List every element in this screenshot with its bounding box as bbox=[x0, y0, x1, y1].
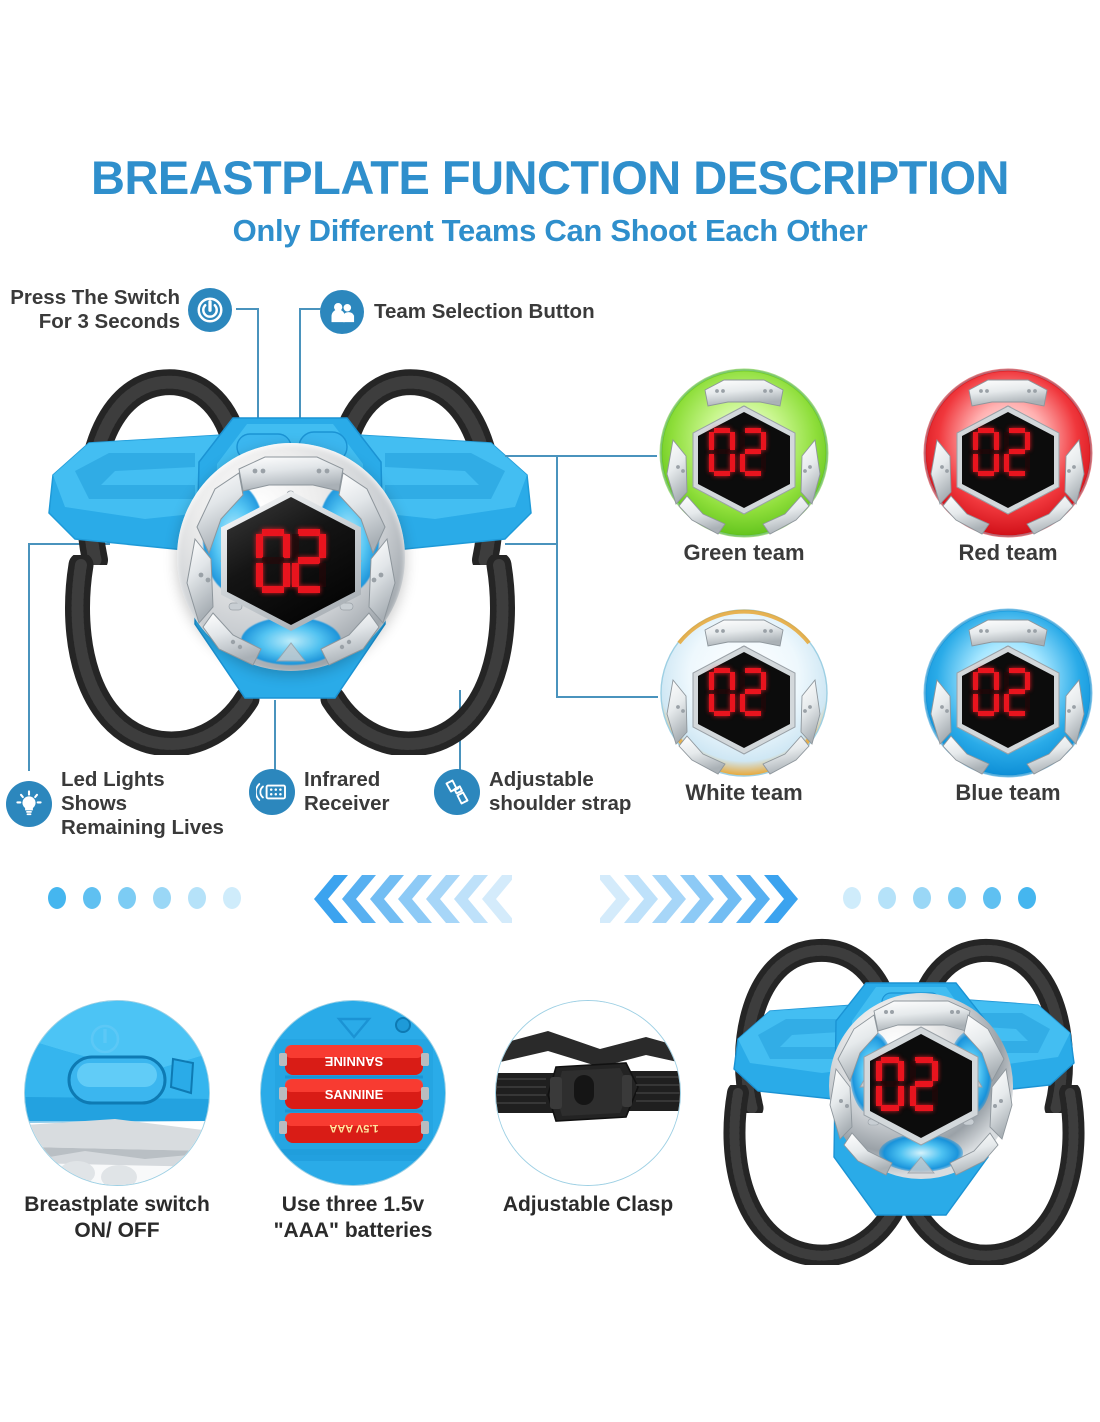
infrared-receiver-icon bbox=[249, 769, 295, 815]
deco-dot bbox=[843, 887, 861, 909]
detail-breastplate-switch bbox=[24, 1000, 210, 1186]
callout-infrared-label: Infrared Receiver bbox=[304, 768, 389, 816]
display-digit-0 bbox=[256, 529, 290, 593]
detail-adjustable-clasp bbox=[495, 1000, 681, 1186]
svg-text:SANNINE: SANNINE bbox=[324, 1054, 383, 1069]
callout-team-selection-label: Team Selection Button bbox=[374, 300, 595, 324]
breastplate-product-angled bbox=[718, 925, 1090, 1265]
callout-shoulder-strap-label: Adjustable shoulder strap bbox=[489, 768, 631, 816]
detail-batteries-label: Use three 1.5v "AAA" batteries bbox=[223, 1192, 483, 1245]
svg-text:SANNINE: SANNINE bbox=[325, 1087, 384, 1102]
team-red-digits bbox=[973, 428, 1030, 476]
shoulder-strap-icon bbox=[434, 769, 480, 815]
connector-teams-bottom bbox=[556, 696, 658, 698]
deco-dot bbox=[878, 887, 896, 909]
page-title: BREASTPLATE FUNCTION DESCRIPTION bbox=[0, 150, 1100, 205]
connector-power-h bbox=[236, 308, 258, 310]
connector-team-h bbox=[299, 308, 321, 310]
angled-display-digits bbox=[876, 1057, 938, 1111]
callout-led-lights-label: Led Lights Shows Remaining Lives bbox=[61, 768, 224, 841]
callout-led-lights: Led Lights Shows Remaining Lives bbox=[6, 768, 224, 841]
callout-team-selection: Team Selection Button bbox=[320, 290, 595, 334]
team-badge-white bbox=[659, 608, 829, 778]
team-blue-digits bbox=[973, 668, 1030, 716]
team-people-icon bbox=[320, 290, 364, 334]
deco-dots-right bbox=[843, 887, 1036, 909]
chevron-right-icon bbox=[600, 873, 800, 925]
team-green-digits bbox=[709, 428, 766, 476]
connector-teams-v bbox=[556, 455, 558, 697]
deco-dot bbox=[188, 887, 206, 909]
team-white-label: White team bbox=[659, 780, 829, 806]
deco-dot bbox=[983, 887, 1001, 909]
deco-dot bbox=[223, 887, 241, 909]
deco-dot bbox=[83, 887, 101, 909]
team-red-label: Red team bbox=[923, 540, 1093, 566]
team-white-digits bbox=[709, 668, 766, 716]
connector-teams-top bbox=[505, 455, 657, 457]
page-subtitle: Only Different Teams Can Shoot Each Othe… bbox=[0, 213, 1100, 249]
connector-teams-mid bbox=[505, 543, 557, 545]
deco-dots-left bbox=[48, 887, 241, 909]
callout-infrared: Infrared Receiver bbox=[249, 768, 389, 816]
deco-dot bbox=[948, 887, 966, 909]
deco-chevrons-left bbox=[312, 873, 512, 925]
deco-dot bbox=[48, 887, 66, 909]
deco-chevrons-right bbox=[600, 873, 800, 925]
display-digit-1 bbox=[292, 529, 326, 593]
deco-dot bbox=[913, 887, 931, 909]
team-badge-blue bbox=[923, 608, 1093, 778]
deco-dot bbox=[153, 887, 171, 909]
deco-dot bbox=[118, 887, 136, 909]
callout-press-switch-label: Press The Switch For 3 Seconds bbox=[2, 286, 180, 334]
callout-press-switch: Press The Switch For 3 Seconds bbox=[2, 286, 232, 334]
team-green-label: Green team bbox=[659, 540, 829, 566]
connector-led-v2 bbox=[28, 543, 30, 756]
main-breastplate-product: 02 bbox=[45, 355, 535, 755]
infographic-page: BREASTPLATE FUNCTION DESCRIPTION Only Di… bbox=[0, 0, 1100, 1422]
detail-batteries: SANNINE SANNINE 1.5V AAA bbox=[260, 1000, 446, 1186]
team-badge-green bbox=[659, 368, 829, 538]
detail-adjustable-clasp-label: Adjustable Clasp bbox=[458, 1192, 718, 1218]
callout-shoulder-strap: Adjustable shoulder strap bbox=[434, 768, 631, 816]
display-digits bbox=[256, 529, 326, 593]
team-badge-red bbox=[923, 368, 1093, 538]
team-blue-label: Blue team bbox=[923, 780, 1093, 806]
lightbulb-icon bbox=[6, 781, 52, 827]
chevron-left-icon bbox=[312, 873, 512, 925]
deco-dot bbox=[1018, 887, 1036, 909]
svg-text:1.5V AAA: 1.5V AAA bbox=[329, 1122, 378, 1134]
power-icon bbox=[188, 288, 232, 332]
detail-breastplate-switch-label: Breastplate switch ON/ OFF bbox=[0, 1192, 247, 1245]
